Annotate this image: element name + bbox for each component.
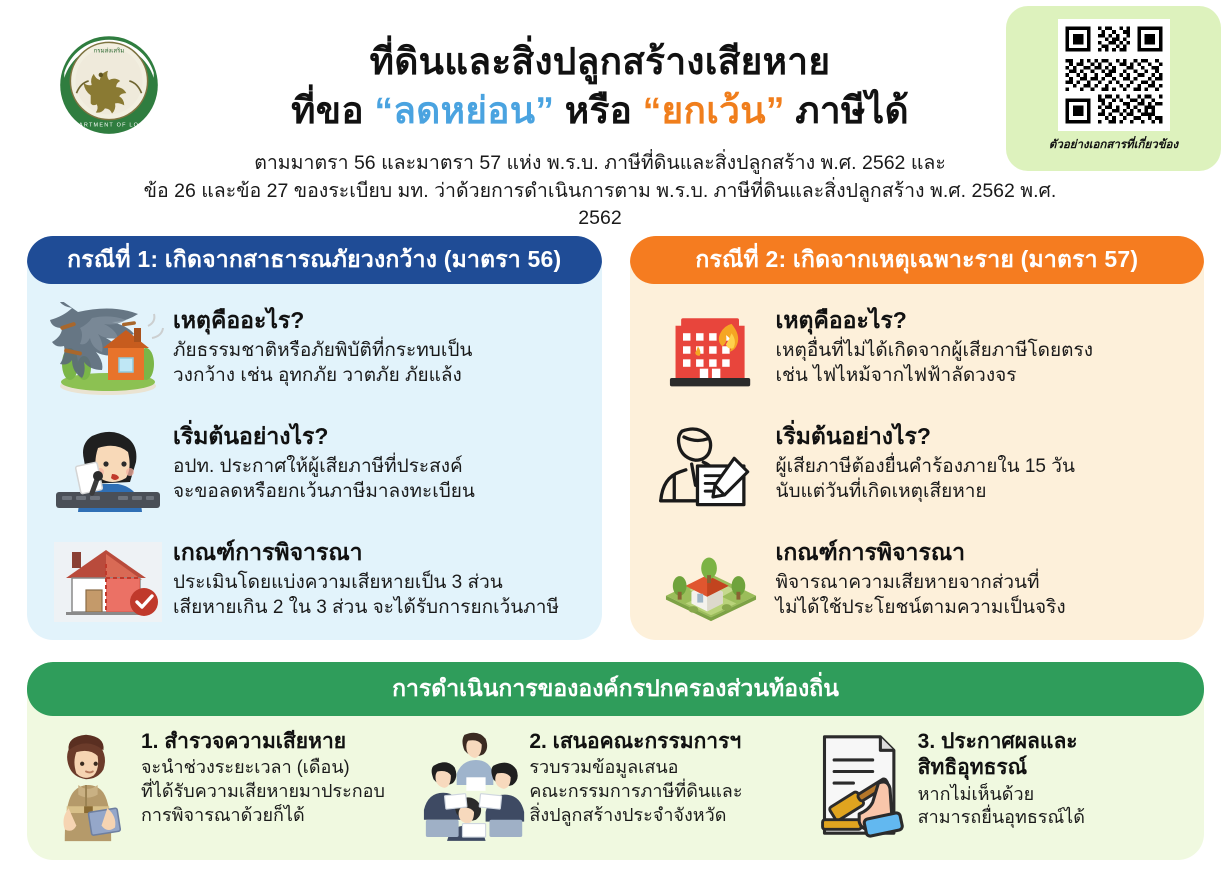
title-part-b: หรือ: [554, 90, 643, 131]
process-step-3-desc-2: สามารถยื่นอุทธรณ์ได้: [918, 806, 1085, 830]
seal-icon: กรมส่งเสริม DEPARTMENT OF LOCAL: [48, 22, 170, 144]
case-2-row-criteria-text: เกณฑ์การพิจารณา พิจารณาความเสียหายจากส่ว…: [776, 530, 1066, 621]
process-step-1: 1. สำรวจความเสียหาย จะนำช่วงระยะเวลา (เด…: [33, 726, 421, 844]
process-step-3-title-line-2: สิทธิอุทธรณ์: [918, 756, 1085, 780]
case-cards: กรณีที่ 1: เกิดจากสาธารณภัยวงกว้าง (มาตร…: [27, 236, 1204, 640]
process-step-2-desc-3: สิ่งปลูกสร้างประจำจังหวัด: [529, 804, 742, 828]
case-1-start-desc-2: จะขอลดหรือยกเว้นภาษีมาลงทะเบียน: [173, 479, 475, 505]
title-part-c: ภาษีได้: [785, 90, 909, 131]
case-1-criteria-desc-2: เสียหายเกิน 2 ใน 3 ส่วน จะได้รับการยกเว้…: [173, 595, 559, 621]
process-step-3-text: 3. ประกาศผลและ สิทธิอุทธรณ์ หากไม่เห็นด้…: [918, 726, 1085, 830]
qr-code-icon[interactable]: [1058, 19, 1170, 131]
case-1-criteria-desc-1: ประเมินโดยแบ่งความเสียหายเป็น 3 ส่วน: [173, 570, 559, 596]
case-1-header: กรณีที่ 1: เกิดจากสาธารณภัยวงกว้าง (มาตร…: [27, 236, 602, 284]
case-1-row-criteria: เกณฑ์การพิจารณา ประเมินโดยแบ่งความเสียหา…: [43, 530, 580, 634]
burning-building-icon: [646, 298, 776, 402]
case-2-row-start-text: เริ่มต้นอย่างไร? ผู้เสียภาษีต้องยื่นคำร้…: [776, 414, 1075, 505]
title-line-1: ที่ดินและสิ่งปลูกสร้างเสียหาย: [200, 38, 1000, 85]
legal-reference-line-1: ตามมาตรา 56 และมาตรา 57 แห่ง พ.ร.บ. ภาษี…: [120, 150, 1080, 178]
process-step-3: 3. ประกาศผลและ สิทธิอุทธรณ์ หากไม่เห็นด้…: [810, 726, 1198, 844]
case-1-row-start: เริ่มต้นอย่างไร? อปท. ประกาศให้ผู้เสียภา…: [43, 414, 580, 518]
case-1-start-desc-1: อปท. ประกาศให้ผู้เสียภาษีที่ประสงค์: [173, 454, 475, 480]
title-part-a: ที่ขอ: [291, 90, 374, 131]
case-2-row-start: เริ่มต้นอย่างไร? ผู้เสียภาษีต้องยื่นคำร้…: [646, 414, 1183, 518]
case-1-row-cause: เหตุคืออะไร? ภัยธรรมชาติหรือภัยพิบัติที่…: [43, 298, 580, 402]
process-step-2: 2. เสนอคณะกรรมการฯ รวบรวมข้อมูลเสนอ คณะก…: [421, 726, 809, 844]
damaged-house-check-icon: [43, 530, 173, 634]
case-1-cause-title: เหตุคืออะไร?: [173, 307, 472, 335]
house-land-plot-icon: [646, 530, 776, 634]
page-title: ที่ดินและสิ่งปลูกสร้างเสียหาย ที่ขอ “ลดห…: [200, 38, 1000, 135]
case-2-cause-desc-1: เหตุอื่นที่ไม่ได้เกิดจากผู้เสียภาษีโดยตร…: [776, 338, 1093, 364]
case-1-row-start-text: เริ่มต้นอย่างไร? อปท. ประกาศให้ผู้เสียภา…: [173, 414, 475, 505]
svg-text:กรมส่งเสริม: กรมส่งเสริม: [94, 48, 125, 55]
case-1-start-title: เริ่มต้นอย่างไร?: [173, 423, 475, 451]
case-2-row-cause-text: เหตุคืออะไร? เหตุอื่นที่ไม่ได้เกิดจากผู้…: [776, 298, 1093, 389]
title-line-2: ที่ขอ “ลดหย่อน” หรือ “ยกเว้น” ภาษีได้: [200, 87, 1000, 134]
legal-reference-line-2: ข้อ 26 และข้อ 27 ของระเบียบ มท. ว่าด้วยก…: [120, 178, 1080, 233]
tornado-house-icon: [43, 298, 173, 402]
case-card-2: กรณีที่ 2: เกิดจากเหตุเฉพาะราย (มาตรา 57…: [630, 236, 1205, 640]
case-1-cause-desc-2: วงกว้าง เช่น อุทกภัย วาตภัย ภัยแล้ง: [173, 363, 472, 389]
case-1-row-cause-text: เหตุคืออะไร? ภัยธรรมชาติหรือภัยพิบัติที่…: [173, 298, 472, 389]
case-1-cause-desc-1: ภัยธรรมชาติหรือภัยพิบัติที่กระทบเป็น: [173, 338, 472, 364]
process-step-2-desc-2: คณะกรรมการภาษีที่ดินและ: [529, 780, 742, 804]
process-step-3-title-line-1: 3. ประกาศผลและ: [918, 730, 1085, 754]
case-2-cause-title: เหตุคืออะไร?: [776, 307, 1093, 335]
case-card-1: กรณีที่ 1: เกิดจากสาธารณภัยวงกว้าง (มาตร…: [27, 236, 602, 640]
process-header: การดำเนินการขององค์กรปกครองส่วนท้องถิ่น: [27, 662, 1204, 716]
qr-panel[interactable]: ตัวอย่างเอกสารที่เกี่ยวข้อง: [1006, 6, 1221, 171]
process-step-1-desc-2: ที่ได้รับความเสียหายมาประกอบ: [141, 780, 385, 804]
header: กรมส่งเสริม DEPARTMENT OF LOCAL ที่ดินแล…: [0, 0, 1231, 222]
committee-meeting-icon: [421, 726, 529, 844]
process-step-2-text: 2. เสนอคณะกรรมการฯ รวบรวมข้อมูลเสนอ คณะก…: [529, 726, 742, 828]
process-step-1-desc-3: การพิจารณาด้วยก็ได้: [141, 804, 385, 828]
case-2-body: เหตุคืออะไร? เหตุอื่นที่ไม่ได้เกิดจากผู้…: [630, 284, 1205, 634]
case-1-row-criteria-text: เกณฑ์การพิจารณา ประเมินโดยแบ่งความเสียหา…: [173, 530, 559, 621]
case-2-start-desc-1: ผู้เสียภาษีต้องยื่นคำร้องภายใน 15 วัน: [776, 454, 1075, 480]
case-2-criteria-desc-1: พิจารณาความเสียหายจากส่วนที่: [776, 570, 1066, 596]
announcer-microphone-icon: [43, 414, 173, 518]
process-step-2-title: 2. เสนอคณะกรรมการฯ: [529, 730, 742, 754]
case-2-cause-desc-2: เช่น ไฟไหม้จากไฟฟ้าลัดวงจร: [776, 363, 1093, 389]
process-step-1-desc-1: จะนำช่วงระยะเวลา (เดือน): [141, 756, 385, 780]
case-2-criteria-title: เกณฑ์การพิจารณา: [776, 539, 1066, 567]
title-highlight-reduce: “ลดหย่อน”: [374, 90, 554, 131]
process-steps: 1. สำรวจความเสียหาย จะนำช่วงระยะเวลา (เด…: [27, 716, 1204, 844]
process-step-1-title: 1. สำรวจความเสียหาย: [141, 730, 385, 754]
process-panel: การดำเนินการขององค์กรปกครองส่วนท้องถิ่น: [27, 662, 1204, 860]
case-2-header: กรณีที่ 2: เกิดจากเหตุเฉพาะราย (มาตรา 57…: [630, 236, 1205, 284]
case-2-start-title: เริ่มต้นอย่างไร?: [776, 423, 1075, 451]
case-1-body: เหตุคืออะไร? ภัยธรรมชาติหรือภัยพิบัติที่…: [27, 284, 602, 634]
case-2-row-criteria: เกณฑ์การพิจารณา พิจารณาความเสียหายจากส่ว…: [646, 530, 1183, 634]
case-1-criteria-title: เกณฑ์การพิจารณา: [173, 539, 559, 567]
process-step-2-desc-1: รวบรวมข้อมูลเสนอ: [529, 756, 742, 780]
organization-logo: กรมส่งเสริม DEPARTMENT OF LOCAL: [48, 22, 170, 144]
process-step-1-text: 1. สำรวจความเสียหาย จะนำช่วงระยะเวลา (เด…: [141, 726, 385, 828]
title-highlight-exempt: “ยกเว้น”: [643, 90, 785, 131]
case-2-criteria-desc-2: ไม่ได้ใช้ประโยชน์ตามความเป็นจริง: [776, 595, 1066, 621]
svg-text:DEPARTMENT OF LOCAL: DEPARTMENT OF LOCAL: [64, 123, 153, 129]
case-2-start-desc-2: นับแต่วันที่เกิดเหตุเสียหาย: [776, 479, 1075, 505]
qr-caption: ตัวอย่างเอกสารที่เกี่ยวข้อง: [1049, 136, 1178, 154]
case-2-row-cause: เหตุคืออะไร? เหตุอื่นที่ไม่ได้เกิดจากผู้…: [646, 298, 1183, 402]
person-filing-form-icon: [646, 414, 776, 518]
process-step-3-desc-1: หากไม่เห็นด้วย: [918, 783, 1085, 807]
legal-reference: ตามมาตรา 56 และมาตรา 57 แห่ง พ.ร.บ. ภาษี…: [120, 150, 1080, 233]
officer-survey-icon: [33, 726, 141, 844]
gavel-document-icon: [810, 726, 918, 844]
